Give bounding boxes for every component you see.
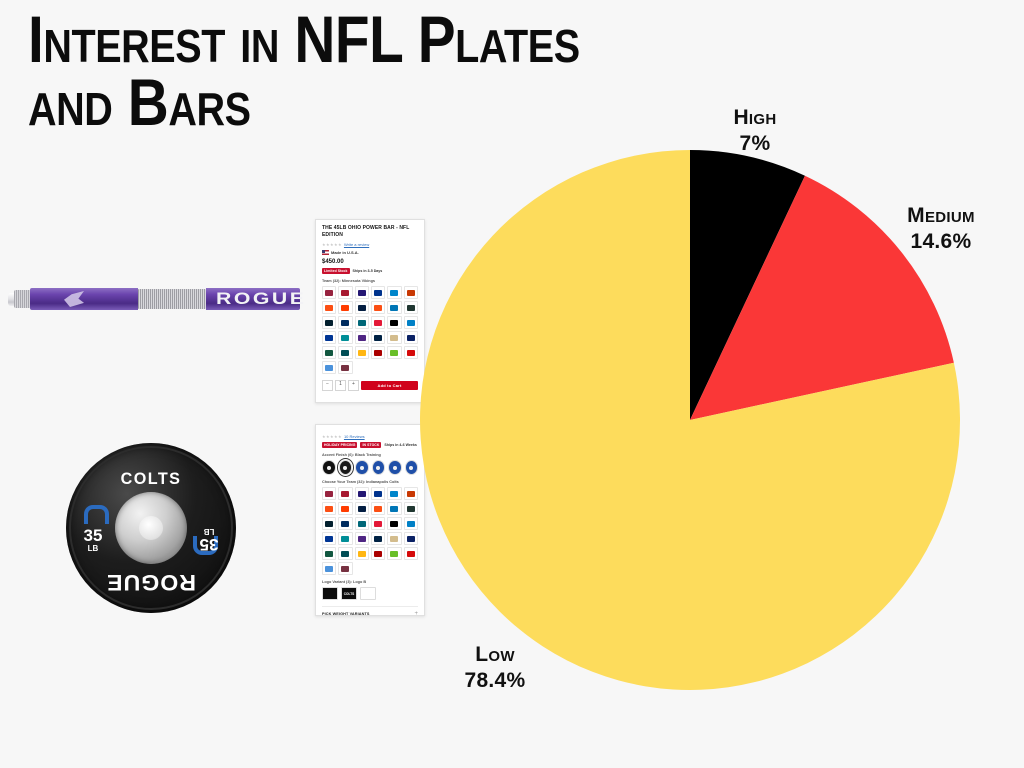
color-section-label: Accent Finish (6): Black Training [322,453,418,457]
color-swatch[interactable] [388,460,402,475]
team-logo-cell[interactable] [387,517,401,530]
team-logo-cell[interactable] [404,301,418,314]
team-logo-cell[interactable] [338,487,352,500]
team-logo-cell[interactable] [322,301,336,314]
shipping-badge: Ships in 4-6 Weeks [384,443,417,447]
team-logo-cell[interactable] [355,301,369,314]
product-card-plate: ★★★★★ 10 Reviews HOLIDAY PRICING IN STOC… [315,424,425,616]
team-logo-cell[interactable] [355,517,369,530]
team-logo-cell[interactable] [371,517,385,530]
team-logo-cell[interactable] [371,316,385,329]
made-in-usa-label: Made in U.S.A. [331,250,359,255]
team-logo-cell[interactable] [387,331,401,344]
pie-label-high: High 7% [700,105,810,156]
team-logo-cell[interactable] [322,532,336,545]
color-swatch-row[interactable] [322,460,418,475]
team-logo-cell[interactable] [355,331,369,344]
team-logo-cell[interactable] [371,301,385,314]
team-logo-cell[interactable] [322,562,336,575]
quantity-decrement-button[interactable]: − [322,380,333,391]
logo-variant-chip[interactable] [322,587,338,600]
team-logo-cell[interactable] [387,301,401,314]
product-title: THE 45LB OHIO POWER BAR - NFL EDITION [322,225,418,238]
plate-weight-unit: LB [76,545,110,553]
team-logo-cell[interactable] [338,316,352,329]
plate-weight-number: 35 [192,536,226,553]
variant-chip-label: COLTS [344,592,355,596]
barbell-product-image: ROGUE [8,279,300,321]
reviews-link[interactable]: 10 Reviews [344,434,365,439]
pie-label-low-name: Low [475,643,515,666]
plate-brand-name: ROGUE [62,569,241,595]
write-review-link[interactable]: Write a review [344,242,369,247]
plate-weight-right: 35 LB [192,527,226,553]
team-logo-grid[interactable] [322,286,418,374]
team-logo-cell[interactable] [338,502,352,515]
team-section-label: Choose Your Team (32): Indianapolis Colt… [322,480,418,484]
team-logo-cell[interactable] [338,301,352,314]
made-in-usa-row: Made in U.S.A. [322,250,418,255]
team-logo-cell[interactable] [355,316,369,329]
team-logo-cell[interactable] [355,547,369,560]
team-logo-cell[interactable] [338,532,352,545]
team-logo-cell[interactable] [387,346,401,359]
product-card-bar: THE 45LB OHIO POWER BAR - NFL EDITION ★★… [315,219,425,403]
page-title-line-2: and Bars [28,65,251,139]
team-logo-cell[interactable] [338,562,352,575]
color-swatch-selected[interactable] [339,460,353,475]
badges-row: Limited Stock Ships in 3-5 Days [322,268,418,274]
team-logo-cell[interactable] [322,316,336,329]
team-logo-cell[interactable] [322,517,336,530]
badges-row: HOLIDAY PRICING IN STOCK Ships in 4-6 We… [322,442,418,448]
team-logo-cell[interactable] [404,547,418,560]
colts-horseshoe-icon [84,505,109,524]
team-logo-cell[interactable] [404,502,418,515]
team-logo-cell[interactable] [404,532,418,545]
pie-label-medium: Medium 14.6% [866,203,1016,254]
pie-label-medium-name: Medium [907,204,975,227]
barbell-sleeve-left [30,288,138,310]
team-logo-grid[interactable] [322,487,418,575]
quantity-increment-button[interactable]: + [348,380,359,391]
star-rating-icon: ★★★★★ [322,434,342,439]
plate-weight-left: 35 LB [76,527,110,553]
team-logo-cell[interactable] [322,346,336,359]
barbell-knurling [138,289,206,309]
expand-plus-icon[interactable]: + [414,611,418,616]
pie-label-medium-value: 14.6% [866,229,1016,255]
team-logo-cell[interactable] [371,286,385,299]
team-logo-cell[interactable] [322,286,336,299]
logo-variant-chip[interactable]: COLTS [341,587,357,600]
team-logo-cell[interactable] [371,502,385,515]
stock-badge: Limited Stock [322,268,350,274]
rating-row: ★★★★★ 10 Reviews [322,434,418,439]
team-logo-cell[interactable] [387,316,401,329]
team-logo-cell[interactable] [404,316,418,329]
rating-row: ★★★★★ Write a review [322,242,418,247]
team-logo-cell[interactable] [371,331,385,344]
team-logo-cell[interactable] [355,346,369,359]
team-logo-cell[interactable] [338,361,352,374]
plate-weight-unit: LB [192,527,226,535]
team-logo-cell[interactable] [355,487,369,500]
color-swatch[interactable] [405,460,419,475]
team-section-label: Team (32): Minnesota Vikings [322,279,418,283]
in-stock-badge: IN STOCK [360,442,381,448]
plate-weight-number: 35 [76,527,110,544]
variant-section-label: Logo Variant (3): Logo B [322,580,418,584]
plate-team-name: COLTS [70,469,232,489]
plate-hub [115,492,187,564]
team-logo-cell[interactable] [338,346,352,359]
color-swatch[interactable] [372,460,386,475]
team-logo-cell[interactable] [322,361,336,374]
star-rating-icon: ★★★★★ [322,242,342,247]
plate-bore [139,516,163,540]
usa-flag-icon [322,250,329,255]
team-logo-cell[interactable] [355,286,369,299]
team-logo-cell[interactable] [387,286,401,299]
pie-label-high-name: High [733,106,776,129]
team-logo-cell[interactable] [371,346,385,359]
team-logo-cell[interactable] [404,487,418,500]
product-price: $450.00 [322,259,418,265]
pie-label-low-value: 78.4% [430,668,560,694]
team-logo-cell[interactable] [355,532,369,545]
shipping-badge: Ships in 3-5 Days [353,269,383,273]
team-logo-cell[interactable] [338,547,352,560]
team-logo-cell[interactable] [404,346,418,359]
team-logo-cell[interactable] [387,547,401,560]
pie-label-high-value: 7% [700,131,810,157]
color-swatch[interactable] [355,460,369,475]
team-logo-cell[interactable] [322,547,336,560]
add-to-cart-button[interactable]: Add to Cart [361,381,418,390]
team-logo-cell[interactable] [355,502,369,515]
promo-badge: HOLIDAY PRICING [322,442,357,448]
barbell-brand-text: ROGUE [216,289,306,309]
quantity-and-cart-row: − 1 + Add to Cart [322,380,418,391]
logo-variant-chip[interactable] [360,587,376,600]
team-logo-cell[interactable] [404,517,418,530]
pick-weight-variants-row[interactable]: PICK WEIGHT VARIANTS + [322,606,418,616]
team-logo-cell[interactable] [322,487,336,500]
color-swatch[interactable] [322,460,336,475]
weight-plate-product-image: COLTS 35 LB 35 LB ROGUE [66,443,236,613]
logo-variant-row[interactable]: COLTS [322,587,418,600]
page-title: Interest in NFL Plates and Bars [28,8,707,135]
team-logo-cell[interactable] [322,502,336,515]
team-logo-cell[interactable] [404,286,418,299]
team-logo-cell[interactable] [387,487,401,500]
team-logo-cell[interactable] [322,331,336,344]
pick-weight-variants-label: PICK WEIGHT VARIANTS [322,612,370,616]
team-logo-cell[interactable] [371,547,385,560]
team-logo-cell[interactable] [338,331,352,344]
team-logo-cell[interactable] [404,331,418,344]
team-logo-cell[interactable] [338,286,352,299]
team-logo-cell[interactable] [371,532,385,545]
team-logo-cell-selected[interactable] [338,517,352,530]
team-logo-cell[interactable] [387,532,401,545]
team-logo-cell[interactable] [387,502,401,515]
team-logo-cell[interactable] [371,487,385,500]
pie-label-low: Low 78.4% [430,642,560,693]
quantity-input[interactable]: 1 [335,380,346,391]
